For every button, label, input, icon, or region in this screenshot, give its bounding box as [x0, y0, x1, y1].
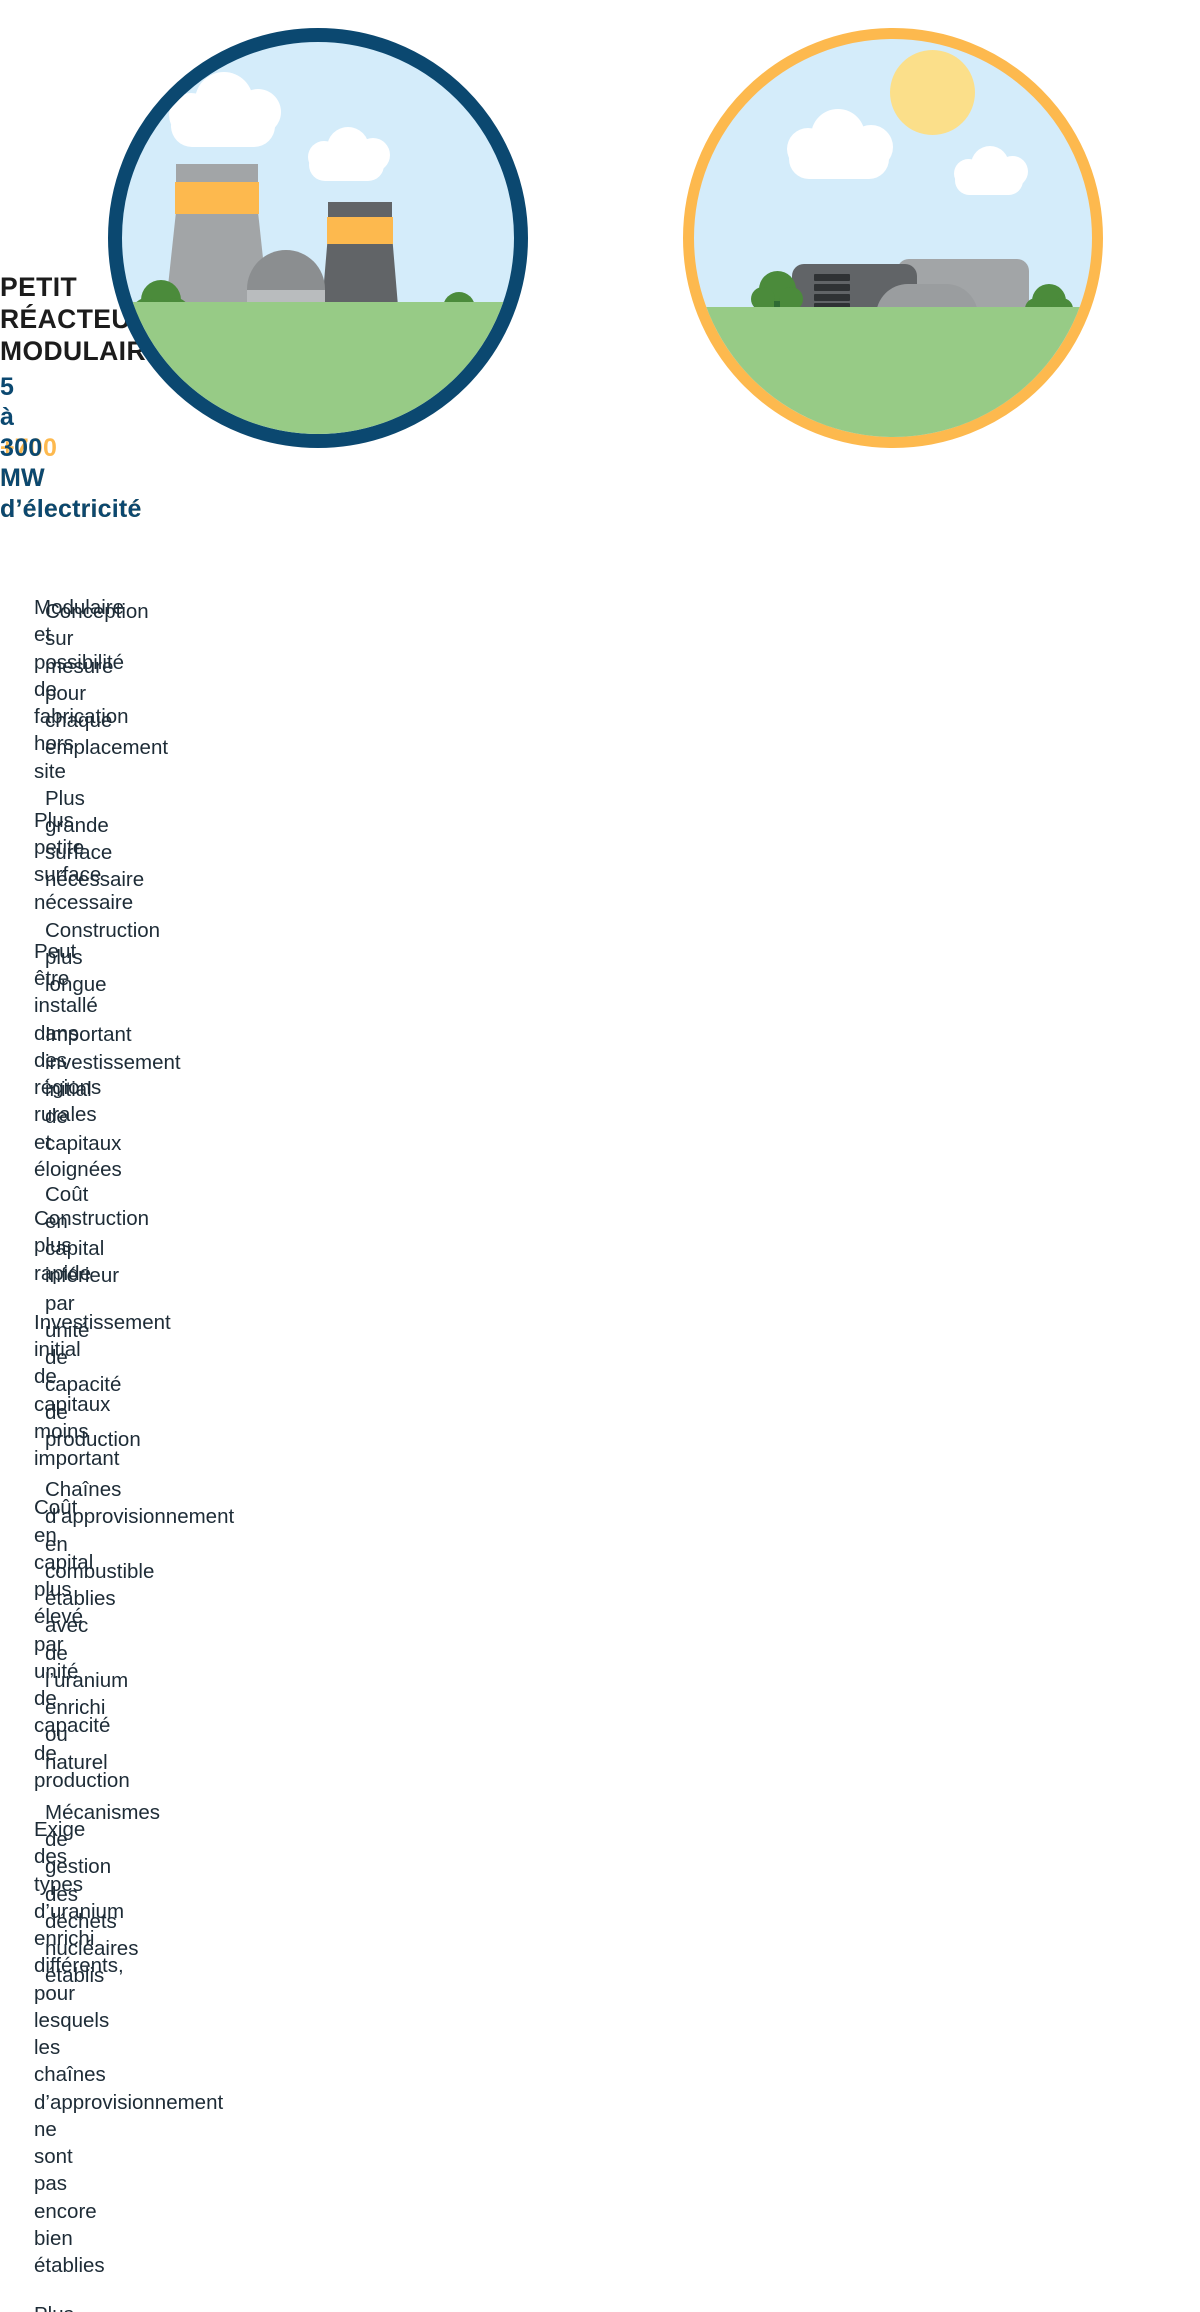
grass-ground [683, 307, 1103, 437]
large-reactor-illustration-icon [108, 28, 528, 448]
infographic-root: GRAND RÉACTEUR +700 MW d’électricité Con… [0, 0, 1200, 1156]
sun-icon [890, 50, 975, 135]
cloud-icon [789, 139, 889, 179]
cloud-icon [309, 149, 384, 181]
large-reactor-scene [122, 42, 514, 434]
grass-ground [108, 302, 528, 434]
cloud-icon [955, 166, 1023, 195]
cloud-icon [171, 105, 275, 147]
smr-scene [694, 39, 1092, 437]
small-modular-reactor-illustration-icon [683, 28, 1103, 448]
